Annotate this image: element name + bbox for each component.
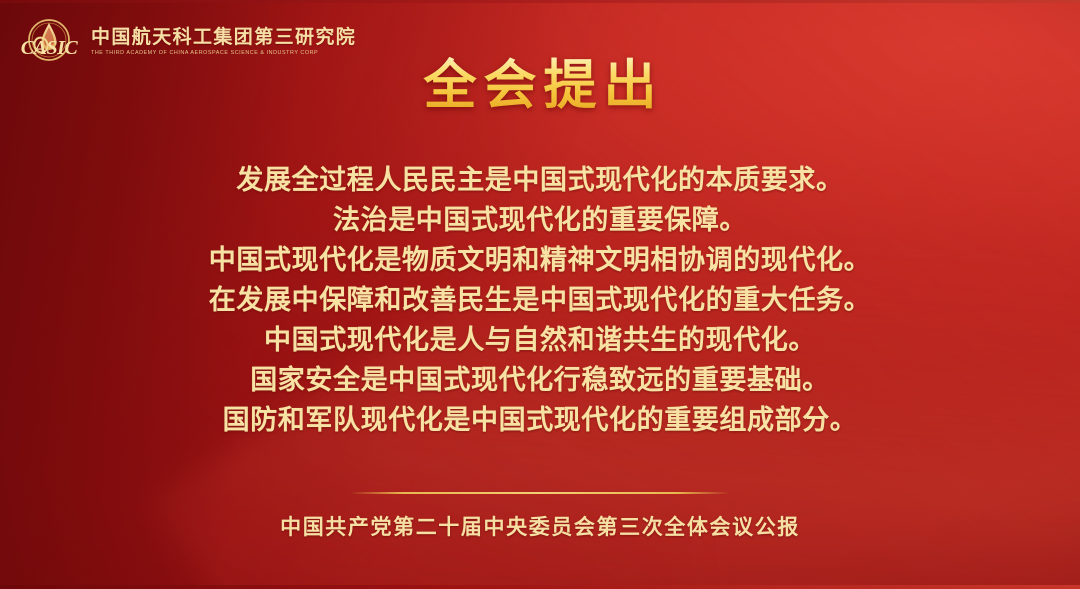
statement-line: 国防和军队现代化是中国式现代化的重要组成部分。 [0, 400, 1080, 440]
top-edge-bar [0, 0, 1080, 3]
brand-name-cn: 中国航天科工集团第三研究院 [91, 28, 356, 49]
statement-line: 在发展中保障和改善民生是中国式现代化的重大任务。 [0, 280, 1080, 320]
brand-text: 中国航天科工集团第三研究院 THE THIRD ACADEMY OF CHINA… [91, 28, 356, 56]
statement-line: 国家安全是中国式现代化行稳致远的重要基础。 [0, 360, 1080, 400]
statement-line: 中国式现代化是人与自然和谐共生的现代化。 [0, 320, 1080, 360]
statement-line: 中国式现代化是物质文明和精神文明相协调的现代化。 [0, 240, 1080, 280]
casic-emblem-icon: CASIC [16, 14, 82, 70]
footer-divider [350, 492, 730, 494]
footer: 中国共产党第二十届中央委员会第三次全体会议公报 [0, 492, 1080, 541]
footer-source-text: 中国共产党第二十届中央委员会第三次全体会议公报 [280, 511, 800, 541]
poster-slide: CASIC 中国航天科工集团第三研究院 THE THIRD ACADEMY OF… [0, 0, 1080, 589]
statement-list: 发展全过程人民民主是中国式现代化的本质要求。 法治是中国式现代化的重要保障。 中… [0, 160, 1080, 440]
bottom-edge-bar [0, 585, 1080, 589]
statement-line: 发展全过程人民民主是中国式现代化的本质要求。 [0, 160, 1080, 200]
svg-text:CASIC: CASIC [21, 37, 79, 59]
brand-logo-lockup: CASIC 中国航天科工集团第三研究院 THE THIRD ACADEMY OF… [16, 14, 356, 70]
brand-name-en: THE THIRD ACADEMY OF CHINA AEROSPACE SCI… [91, 50, 356, 57]
statement-line: 法治是中国式现代化的重要保障。 [0, 200, 1080, 240]
